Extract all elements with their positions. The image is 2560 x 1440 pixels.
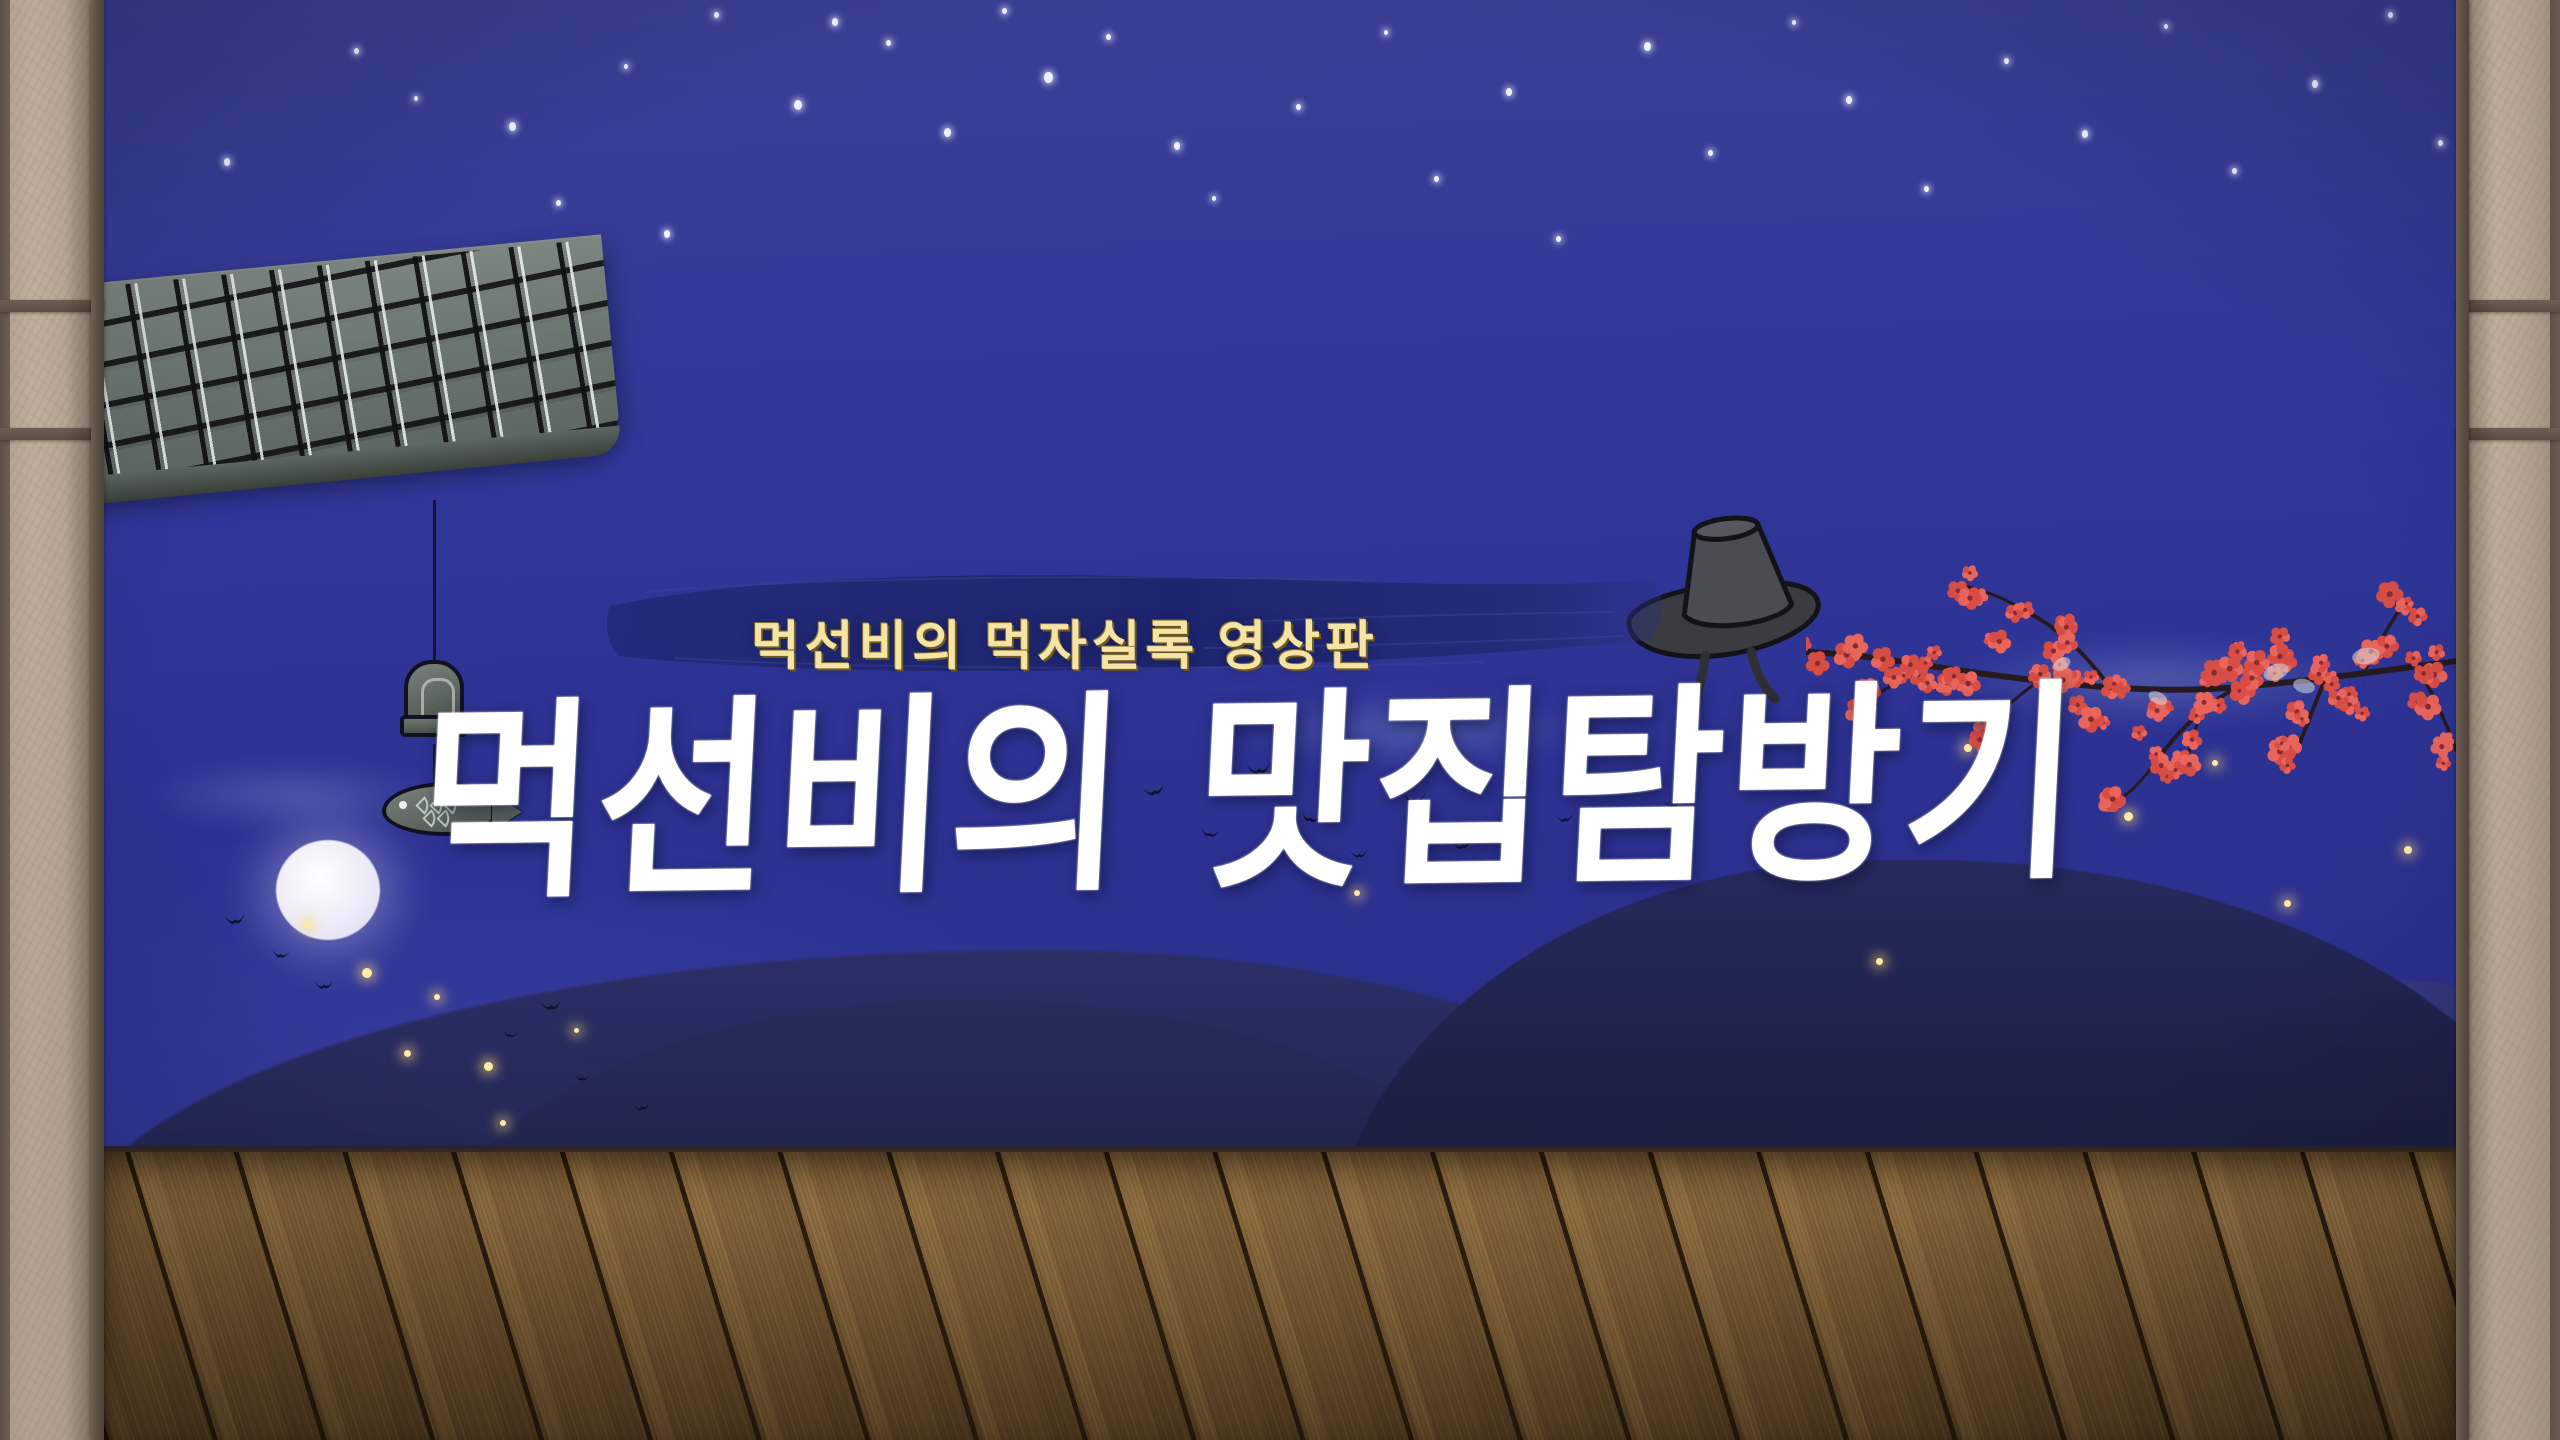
plum-blossom-branch [1806,552,2456,812]
brush-stroke-banner [604,562,1674,692]
star [1296,104,1301,110]
plum-blossom [1871,647,1895,672]
plum-blossom [1918,673,1938,693]
star [1708,150,1713,156]
fish-tail-icon [492,793,522,831]
full-moon [276,840,380,940]
bird-icon [1401,789,1426,806]
firefly [2124,812,2133,821]
star [224,158,230,166]
bell-engraving [421,678,455,720]
wood-grain [104,1146,2456,1440]
star [354,48,359,54]
star [2312,80,2318,88]
firefly [404,1050,411,1057]
bird-icon [1555,811,1574,824]
star [1002,8,1007,14]
star [1846,96,1852,104]
firefly [1876,958,1883,965]
firefly [574,1028,579,1033]
plum-blossom [2279,758,2295,774]
star [2164,24,2168,29]
bird-icon [574,1071,591,1082]
plum-blossom [2178,754,2201,777]
star [1556,236,1561,242]
plum-blossom [2270,627,2290,647]
star [2388,12,2393,18]
star [1506,88,1512,96]
plum-blossom [2182,729,2202,750]
plum-blossom [2078,707,2104,733]
bird-icon [1350,847,1369,859]
star [1174,142,1180,150]
door-stile-right [2550,0,2560,1440]
star [2438,140,2443,146]
star [2082,130,2088,138]
door-edge-shadow [65,0,91,1440]
bird-icon [1199,825,1221,840]
star [1644,42,1651,51]
firefly [434,994,440,1000]
firefly [362,968,372,978]
plum-blossom [2428,644,2445,661]
wind-chime-fish-pendant [382,782,498,836]
star [664,230,670,238]
firefly [304,920,312,928]
star [556,200,561,206]
star [1044,72,1053,83]
door-mullion-vertical [91,0,104,1440]
plum-blossom [1958,587,1982,610]
cloud [1234,690,1594,770]
wooden-deck-floor [104,1146,2456,1440]
fish-eye-icon [399,801,407,809]
plum-blossom [1988,630,2012,654]
firefly [1354,890,1360,896]
star [2232,168,2237,174]
door-edge-shadow [2469,0,2495,1440]
firefly [2404,846,2412,854]
star [794,100,802,110]
hanji-door-left [0,0,104,1440]
wind-chime-bell [404,660,464,732]
star [1384,30,1388,35]
star [414,96,418,101]
door-mullion-vertical [2456,0,2469,1440]
plum-blossom [1962,565,1978,581]
bird-icon [314,977,335,991]
star [1792,20,1796,25]
plum-blossom [2355,706,2370,721]
star [1106,34,1111,40]
door-stile-left [0,0,10,1440]
star [1212,196,1216,201]
bird-icon [1245,759,1273,778]
bird-icon [1503,771,1527,788]
star [2004,58,2009,64]
star [832,18,838,26]
plum-blossom [2131,725,2147,741]
hanji-door-right [2456,0,2560,1440]
star [1434,176,1439,182]
firefly [484,1062,493,1071]
star [624,64,628,69]
star [509,122,516,131]
plum-blossom [2051,668,2076,694]
star [944,128,951,137]
star [886,40,891,46]
plum-blossom [2408,607,2428,626]
plum-blossom [2415,695,2442,721]
title-card-stage: 먹선비의 먹자실록 영상판 먹선비의 맛집탐방기 [0,0,2560,1440]
scene-window: 먹선비의 먹자실록 영상판 먹선비의 맛집탐방기 [104,0,2456,1440]
bird-icon [539,997,562,1013]
star [714,12,719,18]
star [1924,186,1929,192]
wind-chime-cord [433,500,436,666]
plum-blossom [2084,670,2099,685]
bird-icon [271,947,290,960]
plum-blossom [2436,756,2452,771]
firefly [2284,900,2291,907]
firefly [500,1120,506,1126]
